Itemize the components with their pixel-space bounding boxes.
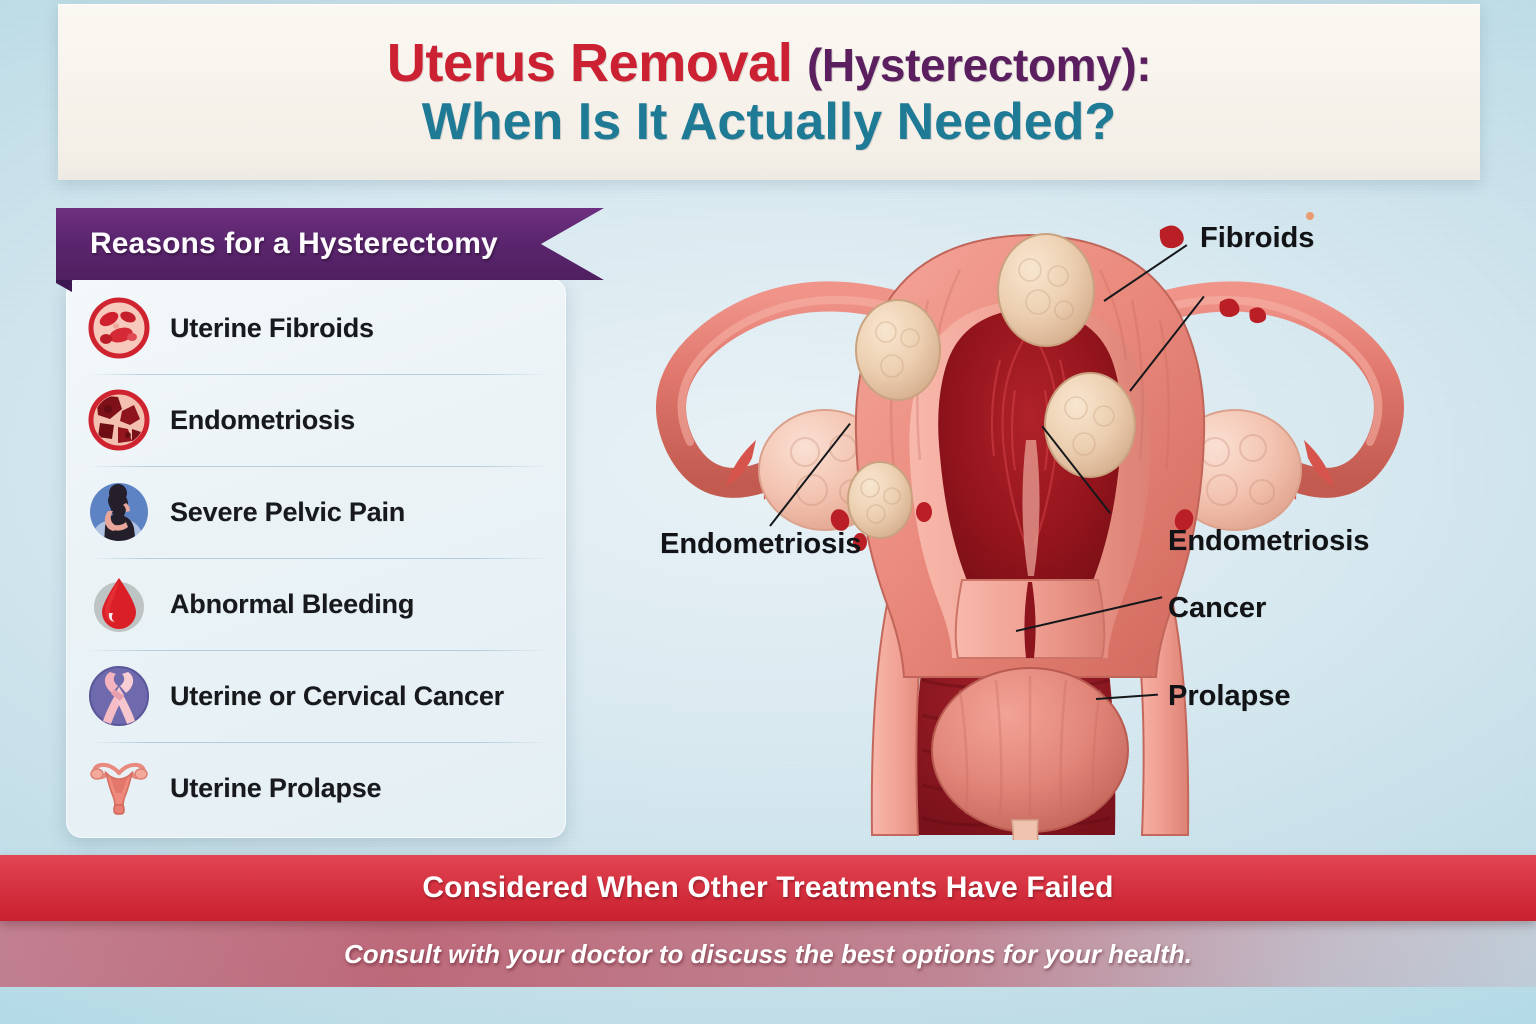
uterus-icon bbox=[88, 757, 150, 819]
list-item-label: Abnormal Bleeding bbox=[170, 589, 414, 620]
list-item-label: Endometriosis bbox=[170, 405, 355, 436]
page-title: Uterus Removal (Hysterectomy): bbox=[387, 35, 1151, 91]
list-item[interactable]: Endometriosis bbox=[66, 374, 566, 466]
footer-note-text: Consult with your doctor to discuss the … bbox=[344, 939, 1192, 970]
blood-drop-icon bbox=[88, 573, 150, 635]
diagram-label-cancer: Cancer bbox=[1168, 592, 1266, 625]
endometrial-tissue-icon bbox=[88, 389, 150, 451]
diagram-label-endometriosis-right: Endometriosis bbox=[1168, 525, 1369, 558]
list-item[interactable]: Uterine Prolapse bbox=[66, 742, 566, 834]
title-purple-part: (Hysterectomy): bbox=[807, 39, 1151, 91]
blood-cells-icon bbox=[88, 297, 150, 359]
diagram-label-fibroids: Fibroids bbox=[1200, 222, 1314, 255]
infographic-canvas: Uterus Removal (Hysterectomy): When Is I… bbox=[0, 0, 1536, 1024]
page-subtitle: When Is It Actually Needed? bbox=[422, 95, 1116, 149]
person-pelvic-pain-icon bbox=[88, 481, 150, 543]
reasons-ribbon-banner: Reasons for a Hysterectomy bbox=[56, 208, 604, 280]
footer-note-band: Consult with your doctor to discuss the … bbox=[0, 921, 1536, 987]
list-item-label: Severe Pelvic Pain bbox=[170, 497, 405, 528]
header-band: Uterus Removal (Hysterectomy): When Is I… bbox=[58, 4, 1480, 180]
diagram-label-prolapse: Prolapse bbox=[1168, 680, 1291, 713]
ribbon-title: Reasons for a Hysterectomy bbox=[90, 227, 498, 261]
list-item[interactable]: Severe Pelvic Pain bbox=[66, 466, 566, 558]
list-item[interactable]: Uterine or Cervical Cancer bbox=[66, 650, 566, 742]
awareness-ribbon-icon bbox=[88, 665, 150, 727]
footer-banner: Considered When Other Treatments Have Fa… bbox=[0, 855, 1536, 921]
list-item-label: Uterine Fibroids bbox=[170, 313, 374, 344]
list-item-label: Uterine or Cervical Cancer bbox=[170, 681, 504, 712]
footer-banner-text: Considered When Other Treatments Have Fa… bbox=[422, 871, 1113, 905]
title-red-part: Uterus Removal bbox=[387, 33, 807, 93]
list-item[interactable]: Abnormal Bleeding bbox=[66, 558, 566, 650]
diagram-label-endometriosis-left: Endometriosis bbox=[660, 528, 861, 561]
uterus-anatomy-illustration bbox=[560, 190, 1500, 840]
list-item[interactable]: Uterine Fibroids bbox=[66, 282, 566, 374]
reasons-list-card: Uterine Fibroids bbox=[66, 278, 566, 838]
list-item-label: Uterine Prolapse bbox=[170, 773, 381, 804]
